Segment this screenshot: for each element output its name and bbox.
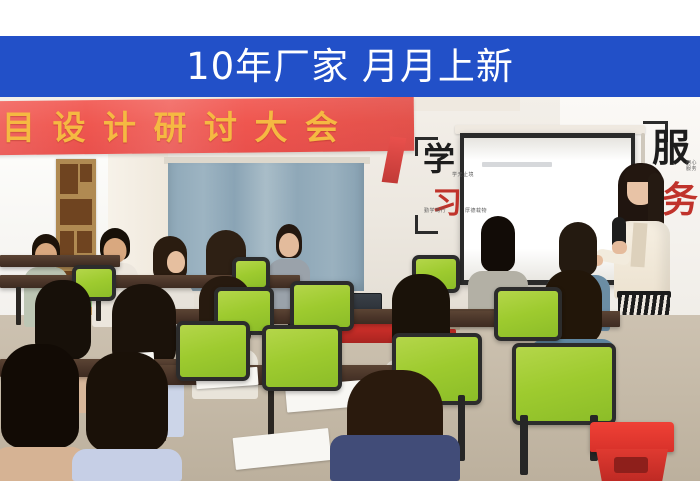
decal-caption-4: 用心服务 (686, 161, 700, 173)
chair-c1 (176, 321, 242, 373)
chair-frame-c4 (520, 415, 528, 475)
hair (1, 344, 79, 448)
chair-back (512, 343, 616, 425)
torso (330, 435, 460, 481)
hair (481, 216, 515, 272)
head (167, 251, 185, 273)
chair-b3 (494, 287, 554, 333)
hair (86, 352, 168, 452)
chair-b2 (290, 281, 346, 323)
presenter-mic-hand (612, 241, 627, 254)
classroom-photo: 目 设 计 研 讨 大 会 学 习 服 务 学无止境 勤学笃行 厚德载物 用心服… (0, 97, 700, 481)
decal-caption-3: 厚德载物 (465, 209, 487, 215)
head (279, 233, 299, 257)
person-front-lavender (72, 355, 182, 481)
bottom-white-margin (0, 481, 700, 497)
hair (559, 222, 597, 276)
headline-text: 10年厂家 月月上新 (186, 48, 514, 85)
promo-banner-image: 10年厂家 月月上新 目 设 计 研 讨 大 会 (0, 0, 700, 497)
chair-back (176, 321, 250, 381)
chair-back (494, 287, 562, 341)
decal-caption-2: 勤学笃行 (424, 209, 446, 215)
chair-c2 (262, 325, 334, 383)
seminar-banner-text: 目 设 计 研 讨 大 会 (0, 101, 422, 149)
decal-caption-1: 学无止境 (452, 173, 474, 179)
red-stool-seat (590, 422, 674, 452)
screen-slide-text (482, 162, 552, 167)
chair-c4 (512, 343, 608, 417)
chair-back (290, 281, 354, 331)
desk-leg-1 (16, 287, 21, 325)
red-stool-handle-hole (614, 457, 648, 473)
person-front-right-navy (330, 373, 460, 481)
top-white-margin (0, 0, 700, 36)
wall-decal-xue: 学 (423, 143, 455, 175)
headline-bar: 10年厂家 月月上新 (0, 36, 700, 97)
torso (72, 449, 182, 481)
